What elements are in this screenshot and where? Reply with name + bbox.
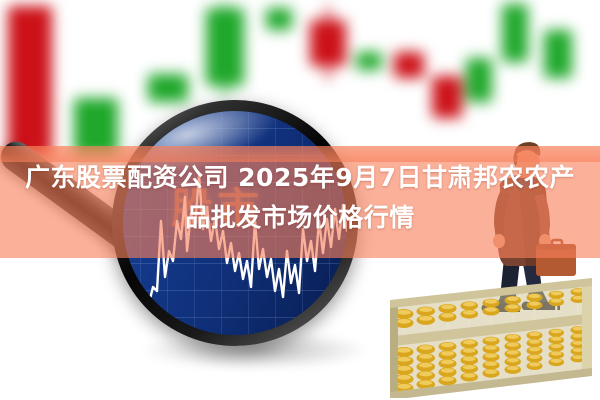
abacus-bead [527, 293, 543, 301]
abacus-bead [439, 367, 457, 376]
abacus-bead [483, 361, 500, 370]
headline-line-1: 广东股票配资公司 2025年9月7日甘肃邦农农产 [25, 163, 575, 192]
abacus-bead [417, 371, 436, 381]
candle-body [356, 52, 382, 70]
abacus-bead [549, 343, 565, 351]
abacus-bead [505, 334, 522, 343]
abacus-bead [439, 376, 457, 385]
abacus-bead [483, 307, 500, 316]
abacus-bead [461, 356, 479, 365]
abacus-bead [505, 342, 522, 351]
abacus [388, 278, 600, 398]
lens-grid-line [123, 128, 347, 129]
abacus-bead [549, 336, 565, 344]
abacus-bead [527, 339, 543, 347]
abacus-bead [527, 354, 543, 362]
abacus-bead [483, 353, 500, 362]
abacus-bead [505, 357, 522, 366]
candle-body [466, 58, 492, 102]
abacus-bead [549, 291, 565, 299]
abacus-bead [527, 347, 543, 355]
abacus-bead [461, 310, 479, 319]
abacus-bead [461, 339, 479, 348]
abacus-bead [549, 298, 565, 306]
abacus-bead [417, 362, 436, 372]
abacus-bead [483, 299, 500, 308]
candle-body [206, 8, 244, 86]
abacus-bead [461, 364, 479, 373]
candle-body [266, 8, 292, 30]
candle-body [394, 52, 424, 78]
abacus-bead [483, 369, 500, 378]
abacus-bead [527, 362, 543, 370]
abacus-bead [439, 342, 457, 351]
abacus-bead [527, 301, 543, 309]
candle-body [8, 6, 52, 158]
abacus-bead [483, 345, 500, 354]
abacus-bead [549, 351, 565, 359]
abacus-frame-right [582, 280, 592, 374]
headline-line-2: 品批发市场价格行情 [0, 198, 600, 238]
banner-image: 股市 [0, 0, 600, 400]
abacus-bead [549, 358, 565, 366]
abacus-bead [505, 365, 522, 374]
candle-body [502, 4, 528, 62]
abacus-bead [527, 331, 543, 339]
abacus-bead [439, 312, 457, 321]
abacus-bead [549, 329, 565, 337]
headline-text: 广东股票配资公司 2025年9月7日甘肃邦农农产 品批发市场价格行情 [0, 158, 600, 238]
candle-body [544, 30, 572, 78]
candle-body [148, 74, 188, 102]
abacus-bead [461, 372, 479, 381]
abacus-bead [417, 344, 436, 354]
abacus-bead [439, 359, 457, 368]
abacus-bead [505, 296, 522, 305]
abacus-bead [417, 306, 436, 316]
abacus-bead [439, 350, 457, 359]
candle-body [432, 76, 462, 118]
abacus-bead [505, 350, 522, 359]
abacus-bead [439, 304, 457, 313]
lens-grid-line [123, 290, 347, 291]
abacus-bead [483, 337, 500, 346]
abacus-bead [461, 348, 479, 357]
abacus-bead [417, 353, 436, 363]
lens-grid-line [123, 317, 347, 318]
lens-grid-line [123, 263, 347, 264]
abacus-bead [461, 301, 479, 310]
abacus-frame-left [390, 302, 398, 398]
abacus-bead [505, 304, 522, 313]
abacus-bead [417, 315, 436, 325]
candle-body [310, 20, 346, 66]
